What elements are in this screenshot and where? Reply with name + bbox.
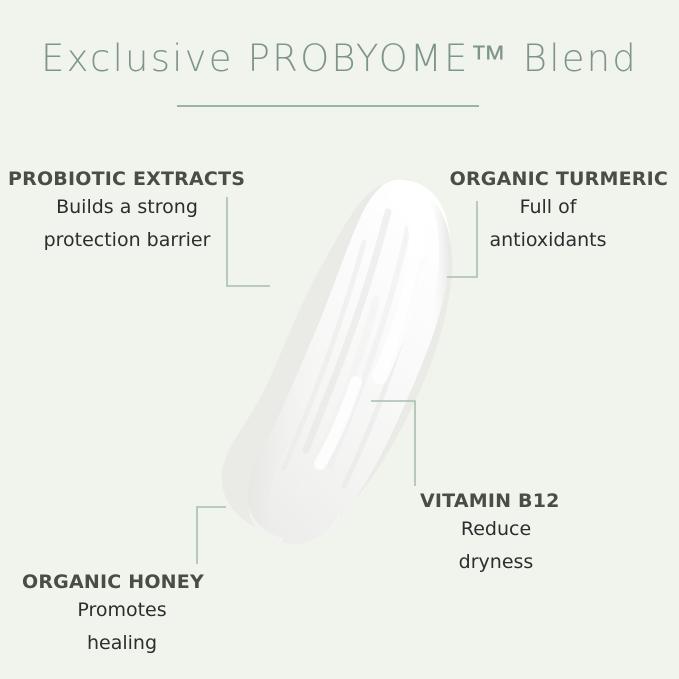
ingredient-infographic: Exclusive PROBYOME™ Blend: [0, 0, 679, 679]
callout-body-line2-organic-honey: healing: [22, 627, 222, 660]
callout-vitamin-b12: VITAMIN B12 Reduce dryness: [420, 490, 572, 579]
cream-left-shading: [248, 310, 338, 542]
callout-heading-organic-turmeric: ORGANIC TURMERIC: [428, 168, 668, 191]
page-title: Exclusive PROBYOME™ Blend: [0, 40, 679, 77]
callout-body-line2-probiotic-extracts: protection barrier: [8, 224, 246, 257]
callout-organic-honey: ORGANIC HONEY Promotes healing: [22, 571, 222, 660]
callout-heading-probiotic-extracts: PROBIOTIC EXTRACTS: [8, 168, 246, 191]
cream-tail: [248, 508, 340, 542]
title-divider: [177, 105, 479, 107]
callout-body-line1-organic-honey: Promotes: [22, 594, 222, 627]
callout-organic-turmeric: ORGANIC TURMERIC Full of antioxidants: [428, 168, 668, 257]
callout-heading-organic-honey: ORGANIC HONEY: [22, 571, 222, 594]
callout-probiotic-extracts: PROBIOTIC EXTRACTS Builds a strong prote…: [8, 168, 246, 257]
cream-texture-ridges: [284, 212, 422, 494]
cream-shadow: [222, 183, 453, 534]
callout-body-line1-vitamin-b12: Reduce: [420, 513, 572, 546]
callout-body-line2-organic-turmeric: antioxidants: [428, 224, 668, 257]
connector-organic-honey: [197, 507, 226, 564]
cream-highlight: [320, 198, 417, 464]
callout-body-line1-organic-turmeric: Full of: [428, 191, 668, 224]
callout-heading-vitamin-b12: VITAMIN B12: [420, 490, 572, 513]
header: Exclusive PROBYOME™ Blend: [0, 40, 679, 77]
callout-body-line1-probiotic-extracts: Builds a strong: [8, 191, 246, 224]
connector-vitamin-b12: [371, 401, 415, 486]
callout-body-line2-vitamin-b12: dryness: [420, 546, 572, 579]
